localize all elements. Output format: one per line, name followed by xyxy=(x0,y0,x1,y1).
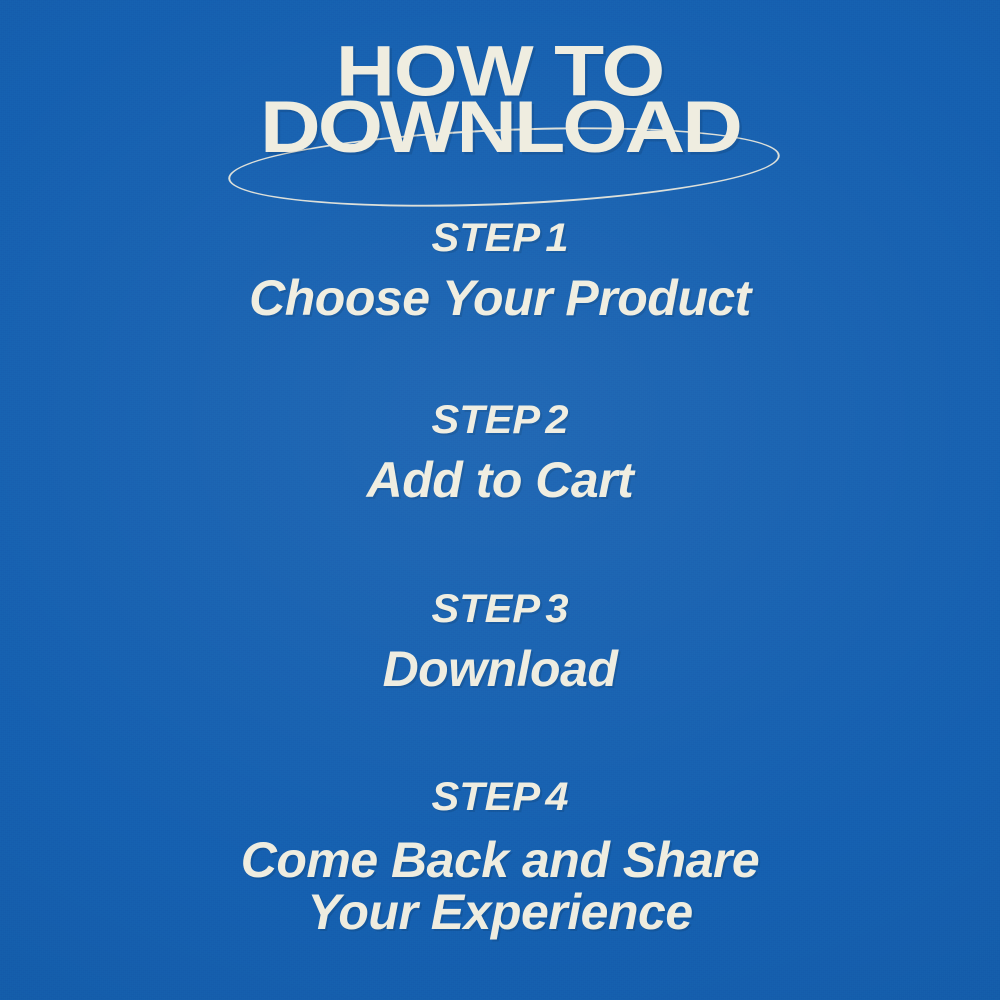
page-title-line-2: DOWNLOAD xyxy=(0,90,1000,164)
step-label-4: STEP4 xyxy=(0,777,1000,817)
step-number-1: 1 xyxy=(545,216,568,260)
step-item-1: STEP1 Choose Your Product xyxy=(0,218,1000,325)
step-item-2: STEP2 Add to Cart xyxy=(0,400,1000,507)
step-description-3: Download xyxy=(0,644,1000,696)
step-label-3: STEP3 xyxy=(0,589,1000,629)
step-word-1: STEP xyxy=(431,216,540,260)
step-word-2: STEP xyxy=(431,398,540,442)
step-word-4: STEP xyxy=(431,775,540,819)
step-item-4: STEP4 Come Back and Share Your Experienc… xyxy=(0,777,1000,938)
step-number-3: 3 xyxy=(545,587,568,631)
step-item-3: STEP3 Download xyxy=(0,589,1000,696)
step-description-4: Come Back and Share Your Experience xyxy=(0,835,1000,938)
step-description-1: Choose Your Product xyxy=(0,273,1000,325)
step-number-4: 4 xyxy=(545,775,568,819)
step-word-3: STEP xyxy=(431,587,540,631)
step-label-1: STEP1 xyxy=(0,218,1000,258)
step-number-2: 2 xyxy=(545,398,568,442)
how-to-download-poster: HOW TO DOWNLOAD STEP1 Choose Your Produc… xyxy=(0,0,1000,1000)
step-label-2: STEP2 xyxy=(0,400,1000,440)
step-description-2: Add to Cart xyxy=(0,455,1000,507)
title-block: HOW TO DOWNLOAD xyxy=(0,34,1000,184)
